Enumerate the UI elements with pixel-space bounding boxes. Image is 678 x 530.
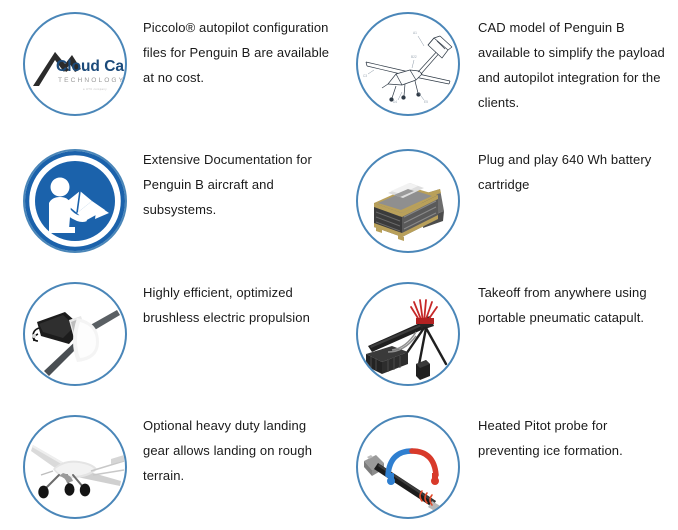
feature-item-pneumatic-catapult: Takeoff from anywhere using portable pne…	[339, 266, 678, 399]
logo-subtitle-text: TECHNOLOGY	[58, 77, 125, 84]
feature-item-documentation: Extensive Documentation for Penguin B ai…	[0, 133, 339, 266]
cloud-cap-technology-logo-icon: Cloud Cap TECHNOLOGY a UTC company	[23, 12, 127, 116]
heated-pitot-probe-photo-icon	[356, 415, 460, 519]
cad-dimension-label: D4	[393, 100, 397, 104]
aircraft-landing-gear-photo-icon	[23, 415, 127, 519]
cad-model-aircraft-drawing-icon: A1 B22 C3 D4 E5	[356, 12, 460, 116]
logo-brand-text: Cloud Cap	[56, 58, 125, 75]
pneumatic-catapult-photo-icon	[356, 282, 460, 386]
feature-caption: Highly efficient, optimized brushless el…	[127, 266, 339, 330]
feature-caption: CAD model of Penguin B available to simp…	[460, 0, 678, 115]
cad-dimension-label: A1	[413, 31, 417, 35]
read-manual-icon	[23, 149, 127, 253]
cad-dimension-label: B22	[411, 55, 417, 59]
logo-tagline-text: a UTC company	[83, 87, 107, 91]
feature-item-battery-cartridge: Plug and play 640 Wh battery cartridge	[339, 133, 678, 266]
battery-cartridge-photo-icon	[356, 149, 460, 253]
cad-dimension-label: E5	[424, 100, 428, 104]
cad-dimension-label: C3	[363, 74, 367, 78]
feature-caption: Extensive Documentation for Penguin B ai…	[127, 133, 339, 222]
feature-item-pitot-probe: Heated Pitot probe for preventing ice fo…	[339, 399, 678, 530]
feature-caption: Optional heavy duty landing gear allows …	[127, 399, 339, 488]
feature-caption: Heated Pitot probe for preventing ice fo…	[460, 399, 678, 463]
feature-grid: Cloud Cap TECHNOLOGY a UTC company Picco…	[0, 0, 678, 530]
feature-caption: Plug and play 640 Wh battery cartridge	[460, 133, 678, 197]
feature-caption: Piccolo® autopilot configuration files f…	[127, 0, 339, 90]
feature-item-electric-propulsion: Highly efficient, optimized brushless el…	[0, 266, 339, 399]
feature-caption: Takeoff from anywhere using portable pne…	[460, 266, 678, 330]
feature-item-piccolo-autopilot: Cloud Cap TECHNOLOGY a UTC company Picco…	[0, 0, 339, 133]
brushless-motor-propeller-photo-icon	[23, 282, 127, 386]
feature-item-cad-model: A1 B22 C3 D4 E5 CAD model of Penguin B a…	[339, 0, 678, 133]
feature-item-landing-gear: Optional heavy duty landing gear allows …	[0, 399, 339, 530]
